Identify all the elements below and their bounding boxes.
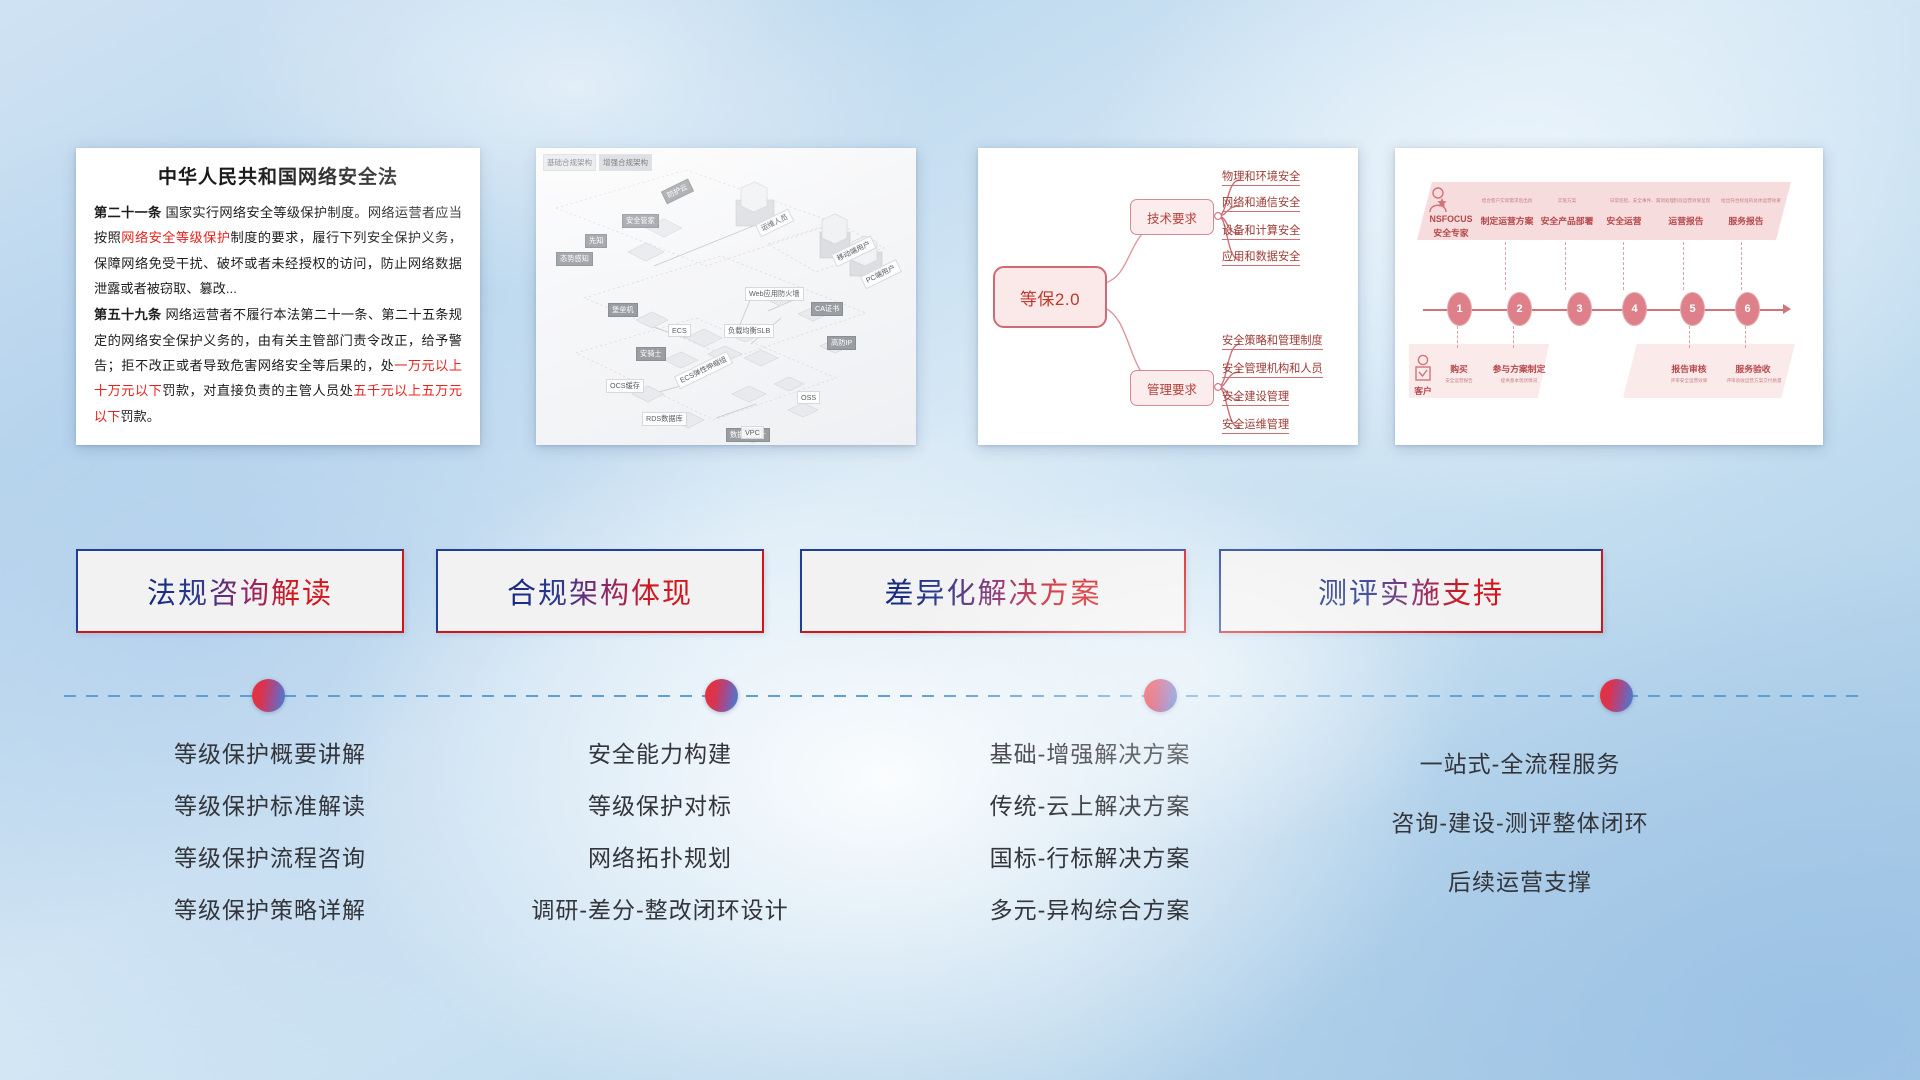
law-document: 中华人民共和国网络安全法 第二十一条 国家实行网络安全等级保护制度。网络运营者应… bbox=[76, 148, 480, 445]
mindmap-leaf-tech-2[interactable]: 网络和通信安全 bbox=[1222, 194, 1300, 212]
connector-bot-6 bbox=[1745, 326, 1747, 348]
connector-bot-2 bbox=[1513, 326, 1515, 348]
section-title-box-4[interactable]: 测评实施支持 bbox=[1219, 549, 1603, 633]
card-nsfocus-service-timeline[interactable]: NSFOCUS 安全专家 客户 1 2 3 4 5 6 bbox=[1395, 148, 1823, 445]
card-compliance-architecture[interactable]: 基础合规架构 增强合规架构 bbox=[536, 148, 916, 445]
mindmap-root-node[interactable]: 等保2.0 bbox=[993, 266, 1107, 328]
dashed-timeline bbox=[64, 695, 1864, 697]
connector-bot-5 bbox=[1689, 326, 1691, 348]
timeline-marker-2[interactable] bbox=[705, 679, 738, 712]
mindmap-branch-management[interactable]: 管理要求 bbox=[1130, 370, 1214, 406]
list-item: 安全能力构建 bbox=[460, 743, 860, 766]
feature-list-3: 基础-增强解决方案 传统-云上解决方案 国标-行标解决方案 多元-异构综合方案 bbox=[880, 743, 1300, 951]
mindmap-leaf-tech-4[interactable]: 应用和数据安全 bbox=[1222, 248, 1300, 266]
customer-role-label: 客户 bbox=[1405, 384, 1441, 397]
mindmap-branch-technical[interactable]: 技术要求 bbox=[1130, 199, 1214, 235]
law-article-59-seg3: 罚款。 bbox=[120, 409, 160, 424]
timeline-marker-3[interactable] bbox=[1144, 679, 1177, 712]
law-article-21-highlight: 网络安全等级保护 bbox=[121, 230, 230, 245]
feature-list-4: 一站式-全流程服务 咨询-建设-测评整体闭环 后续运营支撑 bbox=[1310, 753, 1730, 930]
list-item: 咨询-建设-测评整体闭环 bbox=[1310, 812, 1730, 835]
architecture-node[interactable]: CA证书 bbox=[811, 302, 843, 316]
timeline-step-6[interactable]: 6 bbox=[1735, 292, 1760, 326]
bottom-sub-2: 提供基本现状情况 bbox=[1487, 378, 1551, 384]
architecture-node[interactable]: 安骑士 bbox=[636, 347, 666, 361]
law-article-59-seg2: 罚款，对直接负责的主管人员处 bbox=[162, 383, 353, 398]
section-title-2: 合规架构体现 bbox=[507, 570, 693, 612]
feature-list-1: 等级保护概要讲解 等级保护标准解读 等级保护流程咨询 等级保护策略详解 bbox=[70, 743, 470, 951]
timeline-marker-4[interactable] bbox=[1600, 679, 1633, 712]
list-item: 国标-行标解决方案 bbox=[880, 847, 1300, 870]
timeline-step-4[interactable]: 4 bbox=[1622, 292, 1647, 326]
architecture-node[interactable]: 堡垒机 bbox=[608, 303, 638, 317]
architecture-node[interactable]: RDS数据库 bbox=[642, 412, 687, 426]
top-sub-5: 给出符合标准的总体运营效果 bbox=[1699, 198, 1803, 204]
list-item: 后续运营支撑 bbox=[1310, 871, 1730, 894]
mindmap-leaf-mgmt-2[interactable]: 安全管理机构和人员 bbox=[1222, 360, 1323, 378]
connector-top-5 bbox=[1683, 242, 1685, 290]
connector-top-4 bbox=[1623, 242, 1625, 290]
timeline-step-2[interactable]: 2 bbox=[1507, 292, 1532, 326]
law-article-59: 第五十九条 网络运营者不履行本法第二十一条、第二十五条规定的网络安全保护义务的，… bbox=[94, 302, 462, 429]
bottom-label-4: 服务验收 bbox=[1725, 362, 1781, 375]
mindmap: 等保2.0 技术要求 管理要求 物理和环境安全 网络和通信安全 设备和计算安全 … bbox=[978, 148, 1358, 445]
section-title-4: 测评实施支持 bbox=[1318, 570, 1504, 612]
timeline-step-3[interactable]: 3 bbox=[1567, 292, 1592, 326]
list-item: 等级保护概要讲解 bbox=[70, 743, 470, 766]
list-item: 基础-增强解决方案 bbox=[880, 743, 1300, 766]
slide-canvas: 中华人民共和国网络安全法 第二十一条 国家实行网络安全等级保护制度。网络运营者应… bbox=[0, 0, 1920, 1080]
section-title-box-3[interactable]: 差异化解决方案 bbox=[800, 549, 1186, 633]
architecture-node[interactable]: 高防IP bbox=[827, 336, 856, 350]
architecture-node[interactable]: OSS bbox=[797, 391, 820, 404]
list-item: 调研-差分-整改闭环设计 bbox=[460, 899, 860, 922]
bottom-sub-4: 评审验收运营方案交付质量 bbox=[1715, 378, 1793, 384]
bottom-label-1: 购买 bbox=[1437, 362, 1481, 375]
timeline-step-5[interactable]: 5 bbox=[1680, 292, 1705, 326]
connector-bot-1 bbox=[1457, 326, 1459, 348]
top-label-4: 运营报告 bbox=[1653, 214, 1719, 227]
timeline-axis bbox=[1423, 309, 1785, 311]
bottom-label-2: 参与方案制定 bbox=[1483, 362, 1555, 375]
architecture-connectors bbox=[536, 148, 916, 445]
law-article-21: 第二十一条 国家实行网络安全等级保护制度。网络运营者应当按照网络安全等级保护制度… bbox=[94, 200, 462, 301]
expert-role-label: 安全专家 bbox=[1419, 226, 1483, 239]
connector-top-3 bbox=[1565, 242, 1567, 290]
connector-top-2 bbox=[1505, 242, 1507, 290]
service-timeline: NSFOCUS 安全专家 客户 1 2 3 4 5 6 bbox=[1395, 148, 1823, 445]
connector-top-6 bbox=[1741, 242, 1743, 290]
customer-icon bbox=[1413, 354, 1433, 384]
card-cybersecurity-law[interactable]: 中华人民共和国网络安全法 第二十一条 国家实行网络安全等级保护制度。网络运营者应… bbox=[76, 148, 480, 445]
architecture-diagram: 基础合规架构 增强合规架构 bbox=[536, 148, 916, 445]
list-item: 传统-云上解决方案 bbox=[880, 795, 1300, 818]
section-title-box-2[interactable]: 合规架构体现 bbox=[436, 549, 764, 633]
architecture-node[interactable]: VPC bbox=[741, 426, 764, 439]
architecture-node[interactable]: 先知 bbox=[585, 234, 607, 248]
architecture-node[interactable]: 安全管家 bbox=[622, 214, 659, 228]
feature-list-2: 安全能力构建 等级保护对标 网络拓扑规划 调研-差分-整改闭环设计 bbox=[460, 743, 860, 951]
security-expert-icon bbox=[1427, 186, 1449, 216]
list-item: 等级保护策略详解 bbox=[70, 899, 470, 922]
list-item: 网络拓扑规划 bbox=[460, 847, 860, 870]
bottom-sub-1: 安全运营报告 bbox=[1433, 378, 1485, 384]
section-title-1: 法规咨询解读 bbox=[147, 570, 333, 612]
law-title: 中华人民共和国网络安全法 bbox=[94, 162, 462, 189]
list-item: 等级保护对标 bbox=[460, 795, 860, 818]
architecture-node[interactable]: 态势感知 bbox=[556, 252, 593, 266]
card-mindmap-dengbao[interactable]: 等保2.0 技术要求 管理要求 物理和环境安全 网络和通信安全 设备和计算安全 … bbox=[978, 148, 1358, 445]
top-label-3: 安全运营 bbox=[1591, 214, 1657, 227]
architecture-node[interactable]: OCS缓存 bbox=[606, 379, 644, 393]
architecture-node[interactable]: ECS bbox=[668, 324, 691, 337]
top-label-5: 服务报告 bbox=[1713, 214, 1779, 227]
list-item: 等级保护流程咨询 bbox=[70, 847, 470, 870]
mindmap-leaf-mgmt-3[interactable]: 安全建设管理 bbox=[1222, 388, 1289, 406]
preview-cards-row: 中华人民共和国网络安全法 第二十一条 国家实行网络安全等级保护制度。网络运营者应… bbox=[0, 0, 1920, 460]
architecture-node[interactable]: Web应用防火墙 bbox=[745, 287, 804, 301]
section-title-3: 差异化解决方案 bbox=[884, 570, 1101, 612]
list-item: 一站式-全流程服务 bbox=[1310, 753, 1730, 776]
section-title-box-1[interactable]: 法规咨询解读 bbox=[76, 549, 404, 633]
law-article-59-label: 第五十九条 bbox=[94, 307, 161, 322]
timeline-step-1[interactable]: 1 bbox=[1447, 292, 1472, 326]
mindmap-leaf-tech-3[interactable]: 设备和计算安全 bbox=[1222, 222, 1300, 240]
timeline-marker-1[interactable] bbox=[252, 679, 285, 712]
mindmap-leaf-mgmt-4[interactable]: 安全运维管理 bbox=[1222, 416, 1289, 434]
list-item: 多元-异构综合方案 bbox=[880, 899, 1300, 922]
law-article-21-label: 第二十一条 bbox=[94, 205, 161, 220]
mindmap-leaf-mgmt-1[interactable]: 安全策略和管理制度 bbox=[1222, 332, 1323, 350]
mindmap-leaf-tech-1[interactable]: 物理和环境安全 bbox=[1222, 168, 1300, 186]
timeline-arrow-icon bbox=[1783, 304, 1791, 314]
list-item: 等级保护标准解读 bbox=[70, 795, 470, 818]
architecture-node[interactable]: 负载均衡SLB bbox=[724, 324, 774, 338]
bottom-label-3: 报告审核 bbox=[1661, 362, 1717, 375]
